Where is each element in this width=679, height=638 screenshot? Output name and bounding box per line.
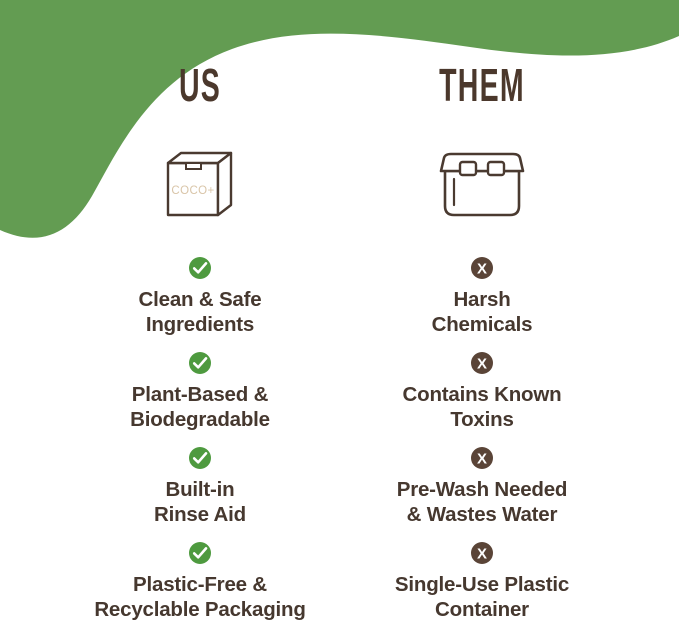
feature-column-them: X Harsh Chemicals X Contains Known Toxin… [332,256,632,636]
product-icon-them [432,146,532,227]
green-wave-decoration [0,0,679,260]
plastic-container-icon [435,146,529,222]
feature-label: Built-in Rinse Aid [154,477,246,527]
cardboard-box-icon: COCO+ [161,146,239,222]
feature-label: Clean & Safe Ingredients [139,287,262,337]
product-icon-us: COCO+ [150,146,250,227]
cross-circle-icon: X [470,256,494,280]
svg-text:X: X [477,260,487,277]
check-circle-icon [188,256,212,280]
svg-text:X: X [477,355,487,372]
feature-item: Built-in Rinse Aid [50,446,350,541]
cross-circle-icon: X [470,351,494,375]
svg-text:X: X [477,545,487,562]
cross-circle-icon: X [470,541,494,565]
cross-circle-icon: X [470,446,494,470]
feature-label: Single-Use Plastic Container [395,572,569,622]
feature-label: Plant-Based & Biodegradable [130,382,270,432]
comparison-infographic: US THEM COCO+ [0,0,679,638]
check-circle-icon [188,541,212,565]
check-circle-icon [188,446,212,470]
column-header-them: THEM [408,62,557,108]
check-circle-icon [188,351,212,375]
feature-item: X Single-Use Plastic Container [332,541,632,636]
feature-label: Plastic-Free & Recyclable Packaging [94,572,305,622]
column-header-us: US [126,62,275,108]
feature-column-us: Clean & Safe Ingredients Plant-Based & B… [50,256,350,636]
feature-item: Clean & Safe Ingredients [50,256,350,351]
box-brand-text: COCO+ [171,185,214,197]
feature-item: X Pre-Wash Needed & Wastes Water [332,446,632,541]
feature-label: Harsh Chemicals [432,287,533,337]
feature-item: X Harsh Chemicals [332,256,632,351]
feature-item: Plastic-Free & Recyclable Packaging [50,541,350,636]
svg-text:X: X [477,450,487,467]
feature-item: Plant-Based & Biodegradable [50,351,350,446]
feature-item: X Contains Known Toxins [332,351,632,446]
feature-label: Contains Known Toxins [403,382,562,432]
feature-label: Pre-Wash Needed & Wastes Water [397,477,568,527]
